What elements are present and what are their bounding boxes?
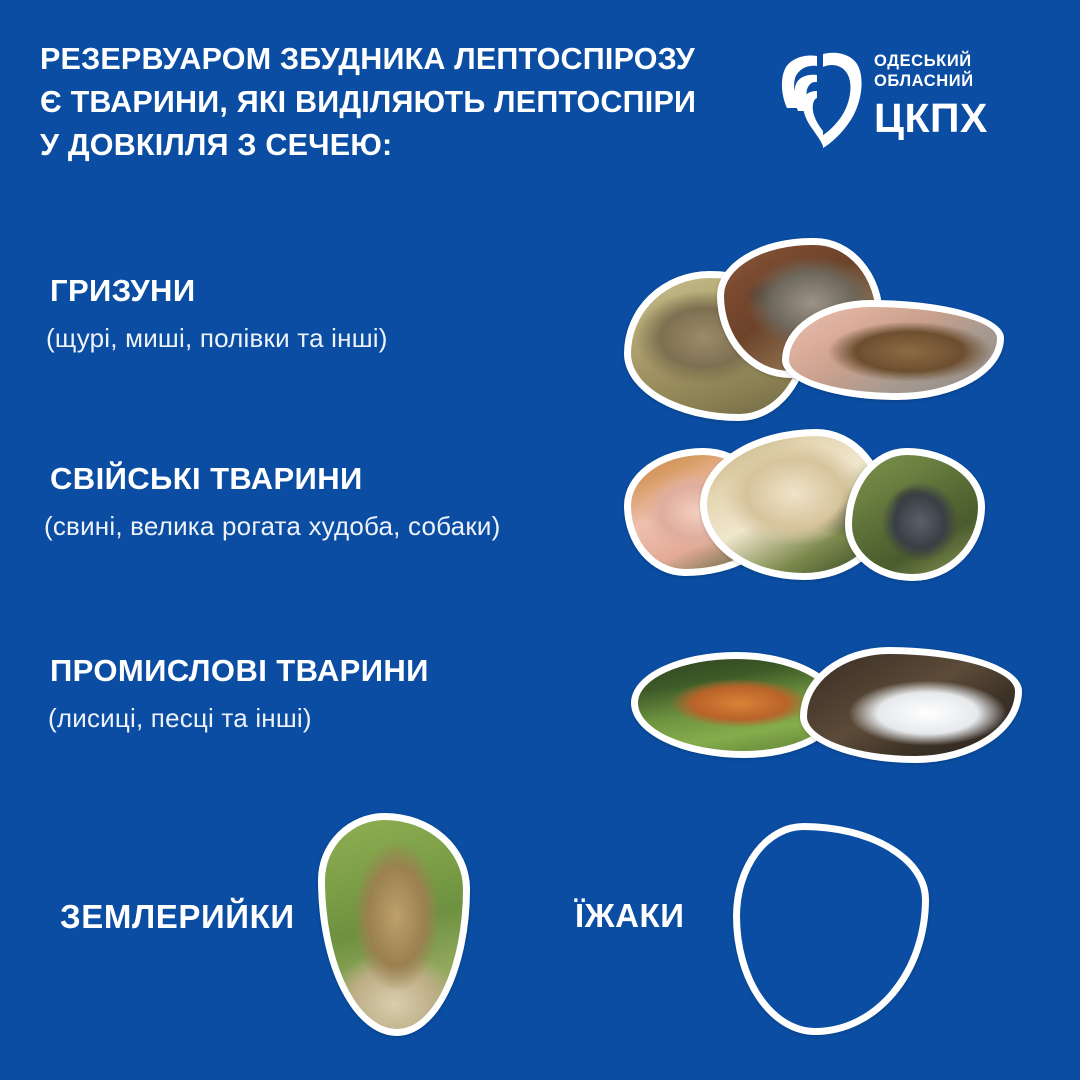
section-rodents-subtitle: (щурі, миші, полівки та інші)	[46, 320, 388, 356]
logo-text-block: ОДЕСЬКИЙ ОБЛАСНИЙ ЦКПХ	[874, 51, 988, 141]
logo-subtitle-line-1: ОДЕСЬКИЙ	[874, 51, 988, 71]
section-rodents: ГРИЗУНИ (щурі, миші, полівки та інші)	[50, 272, 388, 356]
title-line-2: Є ТВАРИНИ, ЯКІ ВИДІЛЯЮТЬ ЛЕПТОСПІРИ	[40, 81, 740, 124]
section-domestic-subtitle: (свині, велика рогата худоба, собаки)	[44, 508, 500, 544]
section-domestic-title: СВІЙСЬКІ ТВАРИНИ	[50, 460, 500, 498]
section-fur-farmed-subtitle: (лисиці, песці та інші)	[48, 700, 429, 736]
infographic-canvas: РЕЗЕРВУАРОМ ЗБУДНИКА ЛЕПТОСПІРОЗУ Є ТВАР…	[0, 0, 1080, 1080]
label-shrews: ЗЕМЛЕРИЙКИ	[60, 898, 295, 936]
title-line-1: РЕЗЕРВУАРОМ ЗБУДНИКА ЛЕПТОСПІРОЗУ	[40, 38, 740, 81]
header-block: РЕЗЕРВУАРОМ ЗБУДНИКА ЛЕПТОСПІРОЗУ Є ТВАР…	[40, 38, 740, 167]
logo-subtitle-line-2: ОБЛАСНИЙ	[874, 71, 988, 91]
logo: ОДЕСЬКИЙ ОБЛАСНИЙ ЦКПХ	[778, 45, 1048, 157]
section-fur-farmed: ПРОМИСЛОВІ ТВАРИНИ (лисиці, песці та інш…	[50, 652, 429, 736]
section-fur-farmed-title: ПРОМИСЛОВІ ТВАРИНИ	[50, 652, 429, 690]
label-hedgehogs: ЇЖАКИ	[575, 897, 685, 935]
photo-arctic-fox	[800, 647, 1022, 763]
logo-acronym: ЦКПХ	[874, 95, 988, 141]
photo-dog	[845, 448, 985, 581]
photo-house-mouse	[782, 300, 1004, 400]
photo-shrew	[318, 813, 470, 1036]
shield-heart-icon	[778, 47, 866, 152]
section-rodents-title: ГРИЗУНИ	[50, 272, 388, 310]
title-line-3: У ДОВКІЛЛЯ З СЕЧЕЮ:	[40, 124, 740, 167]
photo-hedgehog	[733, 823, 929, 1035]
section-domestic: СВІЙСЬКІ ТВАРИНИ (свині, велика рогата х…	[44, 460, 500, 544]
